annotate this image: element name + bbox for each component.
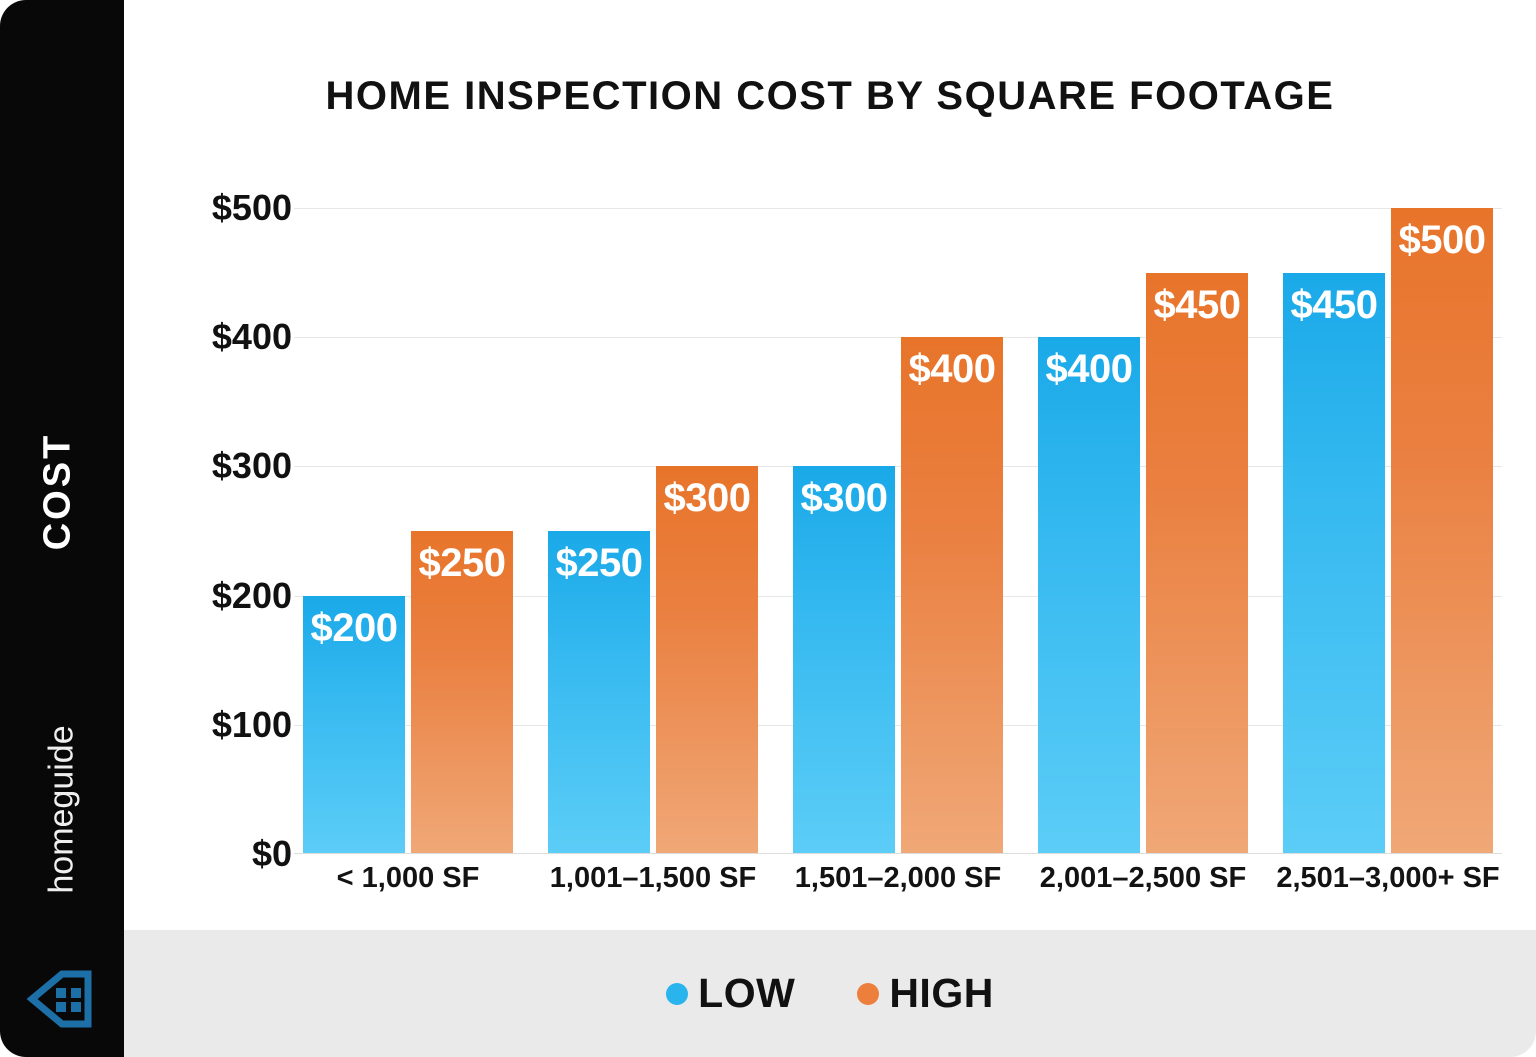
bar-group: $250$300	[539, 208, 767, 854]
brand-name: homeguide	[43, 670, 82, 950]
left-rail: COST homeguide	[0, 0, 124, 1057]
x-tick-label: < 1,000 SF	[294, 862, 522, 895]
y-tick-label: $300	[144, 445, 292, 487]
x-tick-label: 2,501–3,000+ SF	[1274, 862, 1502, 895]
bar-high[interactable]: $250	[411, 531, 513, 854]
bar-groups: $200$250$250$300$300$400$400$450$450$500	[294, 208, 1502, 854]
legend-dot-icon	[666, 983, 688, 1005]
bar-high[interactable]: $500	[1391, 208, 1493, 854]
chart-title: HOME INSPECTION COST BY SQUARE FOOTAGE	[124, 74, 1536, 119]
bar-low[interactable]: $400	[1038, 337, 1140, 854]
legend-item-low[interactable]: LOW	[666, 970, 795, 1017]
bar-value-label: $250	[411, 541, 513, 586]
x-axis-baseline	[294, 853, 1502, 854]
x-tick-label: 2,001–2,500 SF	[1029, 862, 1257, 895]
bar-group: $450$500	[1274, 208, 1502, 854]
bar-low[interactable]: $200	[303, 596, 405, 854]
bar-value-label: $300	[793, 476, 895, 521]
legend-label: HIGH	[889, 970, 994, 1017]
y-tick-label: $200	[144, 575, 292, 617]
bar-high[interactable]: $300	[656, 466, 758, 854]
bar-low[interactable]: $250	[548, 531, 650, 854]
bar-value-label: $450	[1283, 283, 1385, 328]
plot-area: $200$250$250$300$300$400$400$450$450$500	[294, 208, 1502, 854]
y-tick-label: $400	[144, 316, 292, 358]
plot-wrapper: $0$100$200$300$400$500 $200$250$250$300$…	[124, 160, 1536, 930]
y-tick-label: $0	[144, 833, 292, 875]
x-axis-tick-labels: < 1,000 SF1,001–1,500 SF1,501–2,000 SF2,…	[294, 862, 1502, 895]
x-tick-label: 1,501–2,000 SF	[784, 862, 1012, 895]
legend-label: LOW	[698, 970, 795, 1017]
x-tick-label: 1,001–1,500 SF	[539, 862, 767, 895]
y-axis-title: COST	[37, 382, 80, 602]
bar-high[interactable]: $450	[1146, 273, 1248, 854]
bar-group: $200$250	[294, 208, 522, 854]
bar-value-label: $400	[1038, 347, 1140, 392]
bar-high[interactable]: $400	[901, 337, 1003, 854]
bar-low[interactable]: $450	[1283, 273, 1385, 854]
bar-value-label: $300	[656, 476, 758, 521]
bar-value-label: $450	[1146, 283, 1248, 328]
infographic-page: COST homeguide HOME INSPECTION COST BY S…	[0, 0, 1536, 1057]
y-axis-tick-labels: $0$100$200$300$400$500	[144, 160, 292, 856]
homeguide-house-tag-icon	[26, 968, 96, 1030]
legend-dot-icon	[857, 983, 879, 1005]
bar-group: $300$400	[784, 208, 1012, 854]
legend-item-high[interactable]: HIGH	[857, 970, 994, 1017]
bar-value-label: $250	[548, 541, 650, 586]
bar-value-label: $200	[303, 606, 405, 651]
bar-group: $400$450	[1029, 208, 1257, 854]
y-tick-label: $100	[144, 704, 292, 746]
y-tick-label: $500	[144, 187, 292, 229]
bar-low[interactable]: $300	[793, 466, 895, 854]
bar-value-label: $400	[901, 347, 1003, 392]
bar-value-label: $500	[1391, 218, 1493, 263]
chart-legend: LOWHIGH	[124, 930, 1536, 1057]
chart-card: HOME INSPECTION COST BY SQUARE FOOTAGE $…	[124, 0, 1536, 1057]
